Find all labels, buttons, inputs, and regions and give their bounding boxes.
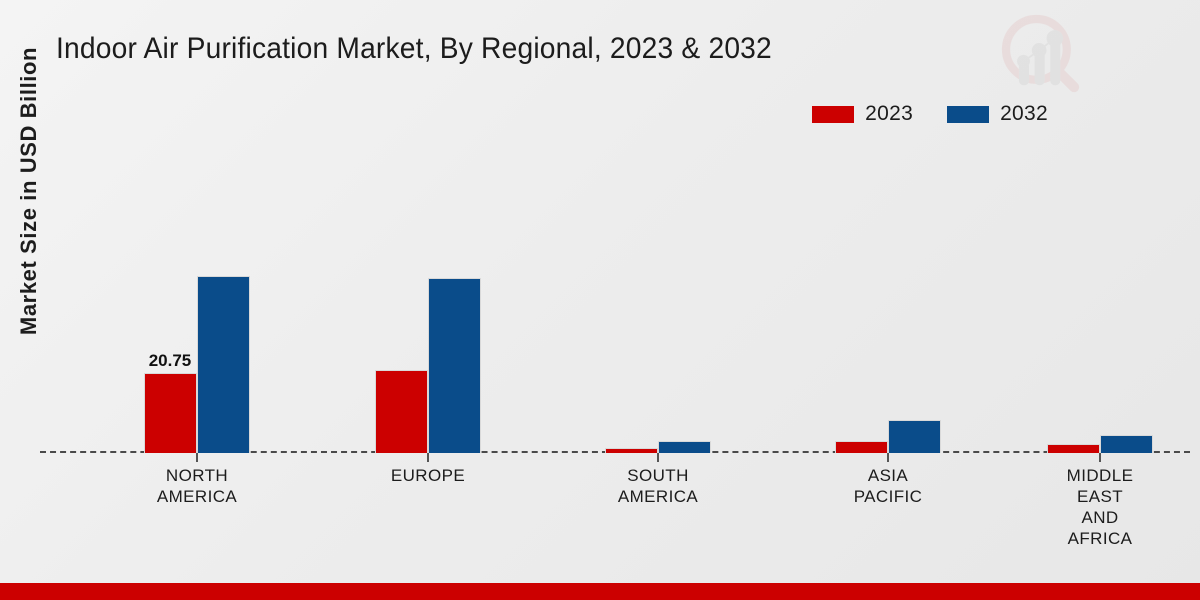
x-axis-tick bbox=[887, 453, 889, 462]
x-axis-label-line: MIDDLE bbox=[1000, 465, 1200, 486]
legend-swatch-2032 bbox=[947, 106, 989, 123]
bar-2023[interactable] bbox=[375, 370, 428, 453]
legend-swatch-2023 bbox=[812, 106, 854, 123]
bar-2032[interactable] bbox=[428, 278, 481, 453]
bar-2032[interactable] bbox=[888, 420, 941, 453]
x-axis-tick bbox=[427, 453, 429, 462]
market-research-logo-watermark bbox=[995, 8, 1087, 100]
page-title: Indoor Air Purification Market, By Regio… bbox=[56, 32, 772, 66]
x-axis-tick bbox=[1099, 453, 1101, 462]
bar-value-label: 20.75 bbox=[100, 351, 240, 371]
x-axis-label-line: EUROPE bbox=[328, 465, 528, 486]
bar-2023[interactable] bbox=[605, 448, 658, 453]
legend-item-2032[interactable]: 2032 bbox=[947, 102, 1048, 126]
chart-figure: Indoor Air Purification Market, By Regio… bbox=[0, 0, 1200, 600]
chart-legend: 2023 2032 bbox=[812, 102, 1048, 126]
x-axis-label: SOUTHAMERICA bbox=[558, 465, 758, 507]
bar-2023[interactable] bbox=[1047, 444, 1100, 453]
bar-2032[interactable] bbox=[658, 441, 711, 453]
legend-label-2032: 2032 bbox=[1000, 102, 1048, 126]
x-axis-label-line: AND bbox=[1000, 507, 1200, 528]
x-axis-label-line: SOUTH bbox=[558, 465, 758, 486]
legend-item-2023[interactable]: 2023 bbox=[812, 102, 913, 126]
x-axis-tick bbox=[196, 453, 198, 462]
bar-pair bbox=[1047, 435, 1153, 453]
x-axis-label-line: EAST bbox=[1000, 486, 1200, 507]
x-axis-label-line: ASIA bbox=[788, 465, 988, 486]
bar-2023[interactable] bbox=[835, 441, 888, 453]
x-axis-label: ASIAPACIFIC bbox=[788, 465, 988, 507]
x-axis-label: EUROPE bbox=[328, 465, 528, 486]
x-axis-label-line: NORTH bbox=[97, 465, 297, 486]
bar-pair bbox=[605, 441, 711, 453]
x-axis-label-line: AFRICA bbox=[1000, 528, 1200, 549]
footer-band bbox=[0, 583, 1200, 600]
plot-area: NORTHAMERICAEUROPESOUTHAMERICAASIAPACIFI… bbox=[40, 140, 1190, 453]
bar-pair bbox=[375, 278, 481, 453]
y-axis-title: Market Size in USD Billion bbox=[16, 26, 42, 356]
bar-2032[interactable] bbox=[1100, 435, 1153, 453]
bar-pair bbox=[835, 420, 941, 453]
bar-2023[interactable] bbox=[144, 373, 197, 453]
x-axis-label-line: PACIFIC bbox=[788, 486, 988, 507]
x-axis-tick bbox=[657, 453, 659, 462]
x-axis-label-line: AMERICA bbox=[558, 486, 758, 507]
legend-label-2023: 2023 bbox=[865, 102, 913, 126]
x-axis-label: MIDDLEEASTANDAFRICA bbox=[1000, 465, 1200, 549]
x-axis-label: NORTHAMERICA bbox=[97, 465, 297, 507]
x-axis-label-line: AMERICA bbox=[97, 486, 297, 507]
